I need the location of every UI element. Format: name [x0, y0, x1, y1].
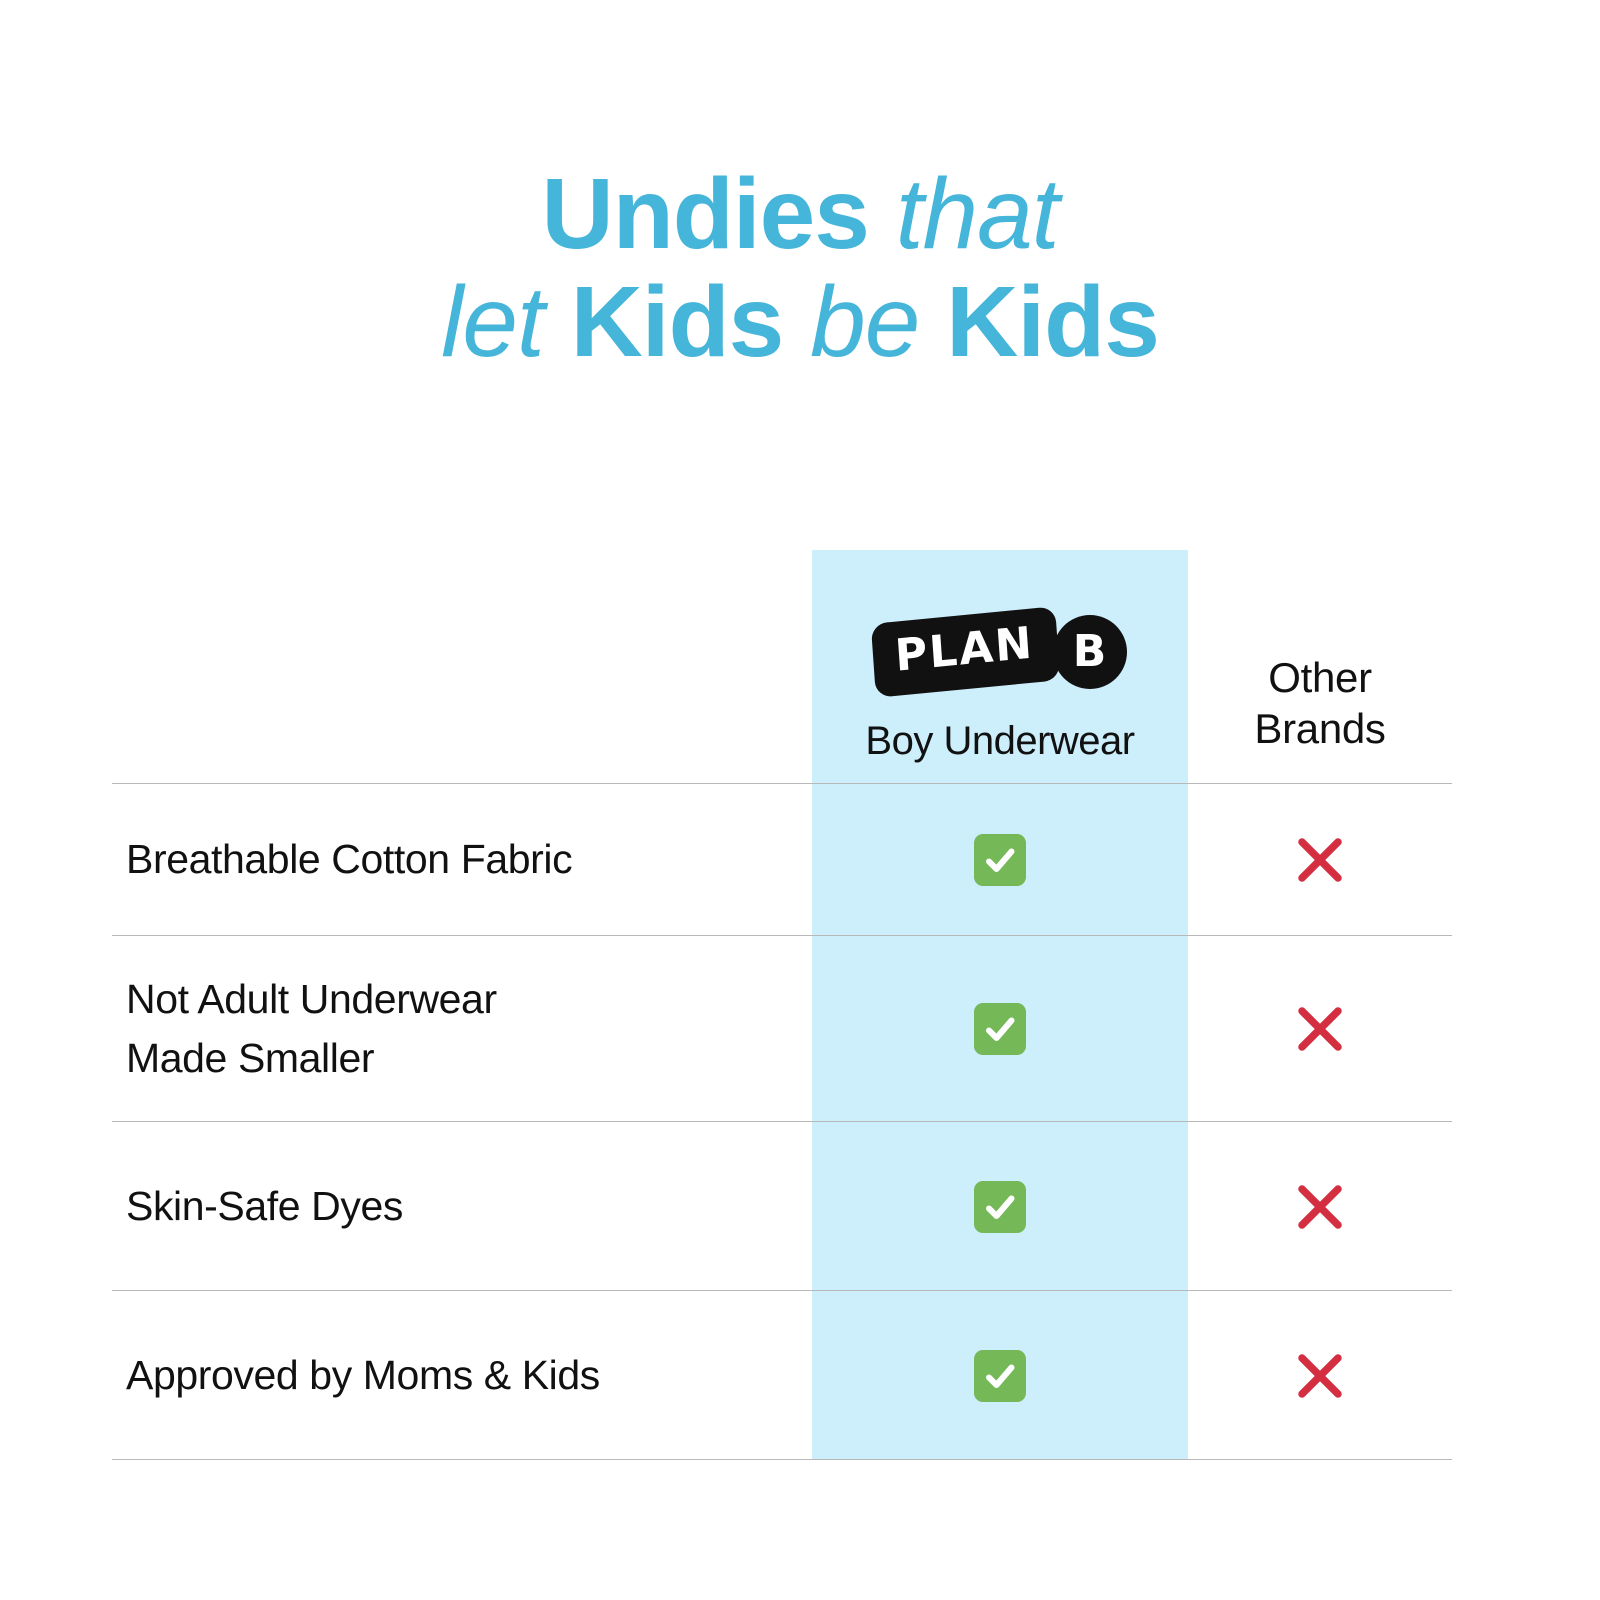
- headline-word-kids-2: Kids: [946, 266, 1159, 378]
- plan-b-logo: PLAN B: [873, 607, 1126, 697]
- x-icon: [1291, 1178, 1349, 1236]
- feature-cell: Breathable Cotton Fabric: [112, 830, 812, 889]
- headline-word-that: that: [896, 158, 1059, 270]
- headline-word-be: be: [810, 266, 919, 378]
- feature-cell: Skin-Safe Dyes: [112, 1177, 812, 1236]
- check-icon: [974, 1181, 1026, 1233]
- other-value-cell: [1188, 1347, 1452, 1405]
- feature-label: Not Adult Underwear Made Smaller: [126, 970, 812, 1089]
- brand-subtitle: Boy Underwear: [865, 719, 1134, 764]
- brand-value-cell: [812, 834, 1188, 886]
- table-row: Skin-Safe Dyes: [112, 1122, 1452, 1291]
- table-row: Not Adult Underwear Made Smaller: [112, 936, 1452, 1122]
- logo-plan-badge: PLAN: [871, 606, 1061, 698]
- check-icon: [974, 834, 1026, 886]
- header-other-cell: Other Brands: [1188, 652, 1452, 784]
- other-brands-line-2: Brands: [1254, 703, 1385, 754]
- feature-cell: Not Adult Underwear Made Smaller: [112, 970, 812, 1089]
- headline-line-2: let Kids be Kids: [0, 268, 1600, 376]
- headline-line-1: Undies that: [0, 160, 1600, 268]
- check-icon: [974, 1003, 1026, 1055]
- logo-b-circle: B: [1053, 615, 1127, 689]
- headline-word-kids-1: Kids: [571, 266, 784, 378]
- feature-label-line-2: Made Smaller: [126, 1029, 812, 1088]
- header-brand-cell: PLAN B Boy Underwear: [812, 607, 1188, 784]
- feature-label: Skin-Safe Dyes: [126, 1177, 812, 1236]
- feature-cell: Approved by Moms & Kids: [112, 1346, 812, 1405]
- feature-label-line-1: Approved by Moms & Kids: [126, 1346, 812, 1405]
- brand-value-cell: [812, 1350, 1188, 1402]
- feature-label-line-1: Skin-Safe Dyes: [126, 1177, 812, 1236]
- other-value-cell: [1188, 1178, 1452, 1236]
- other-brands-line-1: Other: [1254, 652, 1385, 703]
- table-row: Approved by Moms & Kids: [112, 1291, 1452, 1460]
- page-title: Undies that let Kids be Kids: [0, 160, 1600, 376]
- brand-value-cell: [812, 1003, 1188, 1055]
- brand-value-cell: [812, 1181, 1188, 1233]
- feature-label: Approved by Moms & Kids: [126, 1346, 812, 1405]
- x-icon: [1291, 1347, 1349, 1405]
- x-icon: [1291, 1000, 1349, 1058]
- comparison-table: PLAN B Boy Underwear Other Brands Breat: [112, 550, 1452, 1460]
- table-row: Breathable Cotton Fabric: [112, 784, 1452, 936]
- x-icon: [1291, 831, 1349, 889]
- feature-label-line-1: Breathable Cotton Fabric: [126, 830, 812, 889]
- check-icon: [974, 1350, 1026, 1402]
- headline-word-undies: Undies: [542, 158, 869, 270]
- feature-label-line-1: Not Adult Underwear: [126, 970, 812, 1029]
- other-value-cell: [1188, 831, 1452, 889]
- headline-word-let: let: [441, 266, 544, 378]
- feature-label: Breathable Cotton Fabric: [126, 830, 812, 889]
- comparison-infographic: Undies that let Kids be Kids PLAN B Boy …: [0, 0, 1600, 1600]
- other-brands-heading: Other Brands: [1254, 652, 1385, 754]
- table-header-row: PLAN B Boy Underwear Other Brands: [112, 550, 1452, 784]
- other-value-cell: [1188, 1000, 1452, 1058]
